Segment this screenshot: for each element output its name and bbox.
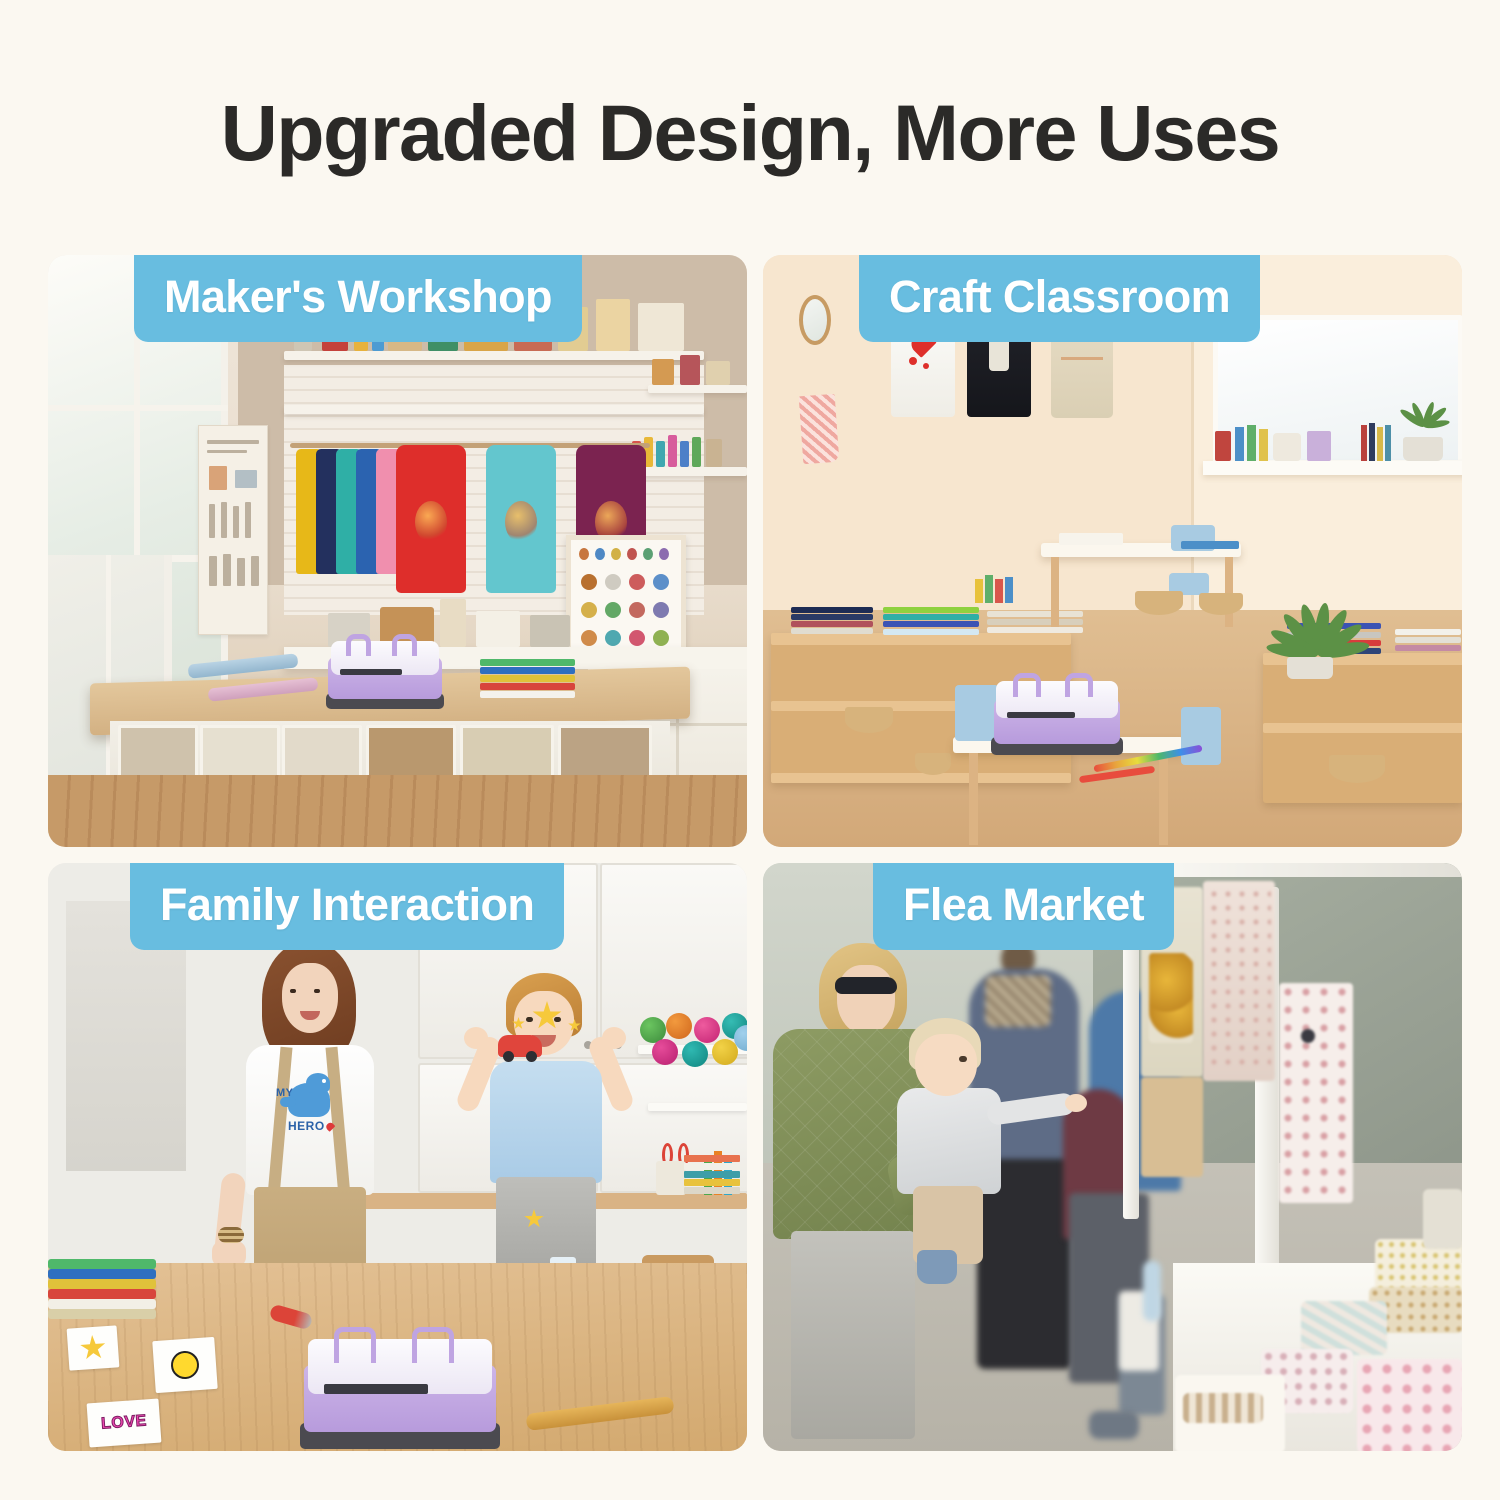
classroom-chair-right[interactable] (1181, 707, 1221, 765)
photo-family-interaction: MY HERO (48, 863, 747, 1451)
folded-shirts-stack (480, 659, 575, 701)
sticker-love-text: LOVE (101, 1412, 148, 1433)
badge-craft-classroom: Craft Classroom (859, 255, 1260, 342)
heat-press-machine (326, 635, 444, 709)
sunglasses-icon (835, 977, 897, 994)
heat-press-machine (991, 675, 1123, 755)
tshirt-red (396, 445, 466, 593)
yarn-ball (694, 1017, 720, 1043)
photo-flea-market (763, 863, 1462, 1451)
heat-press-machine (300, 1329, 500, 1449)
fern-plant (1263, 577, 1373, 669)
shirt-text-hero: HERO (288, 1119, 325, 1133)
page-title: Upgraded Design, More Uses (0, 93, 1500, 172)
round-mirror (799, 295, 831, 345)
panel-craft-classroom[interactable]: Craft Classroom (763, 255, 1462, 847)
folded-garments-navy (791, 607, 873, 635)
photo-makers-workshop (48, 255, 747, 847)
yarn-ball (682, 1041, 708, 1067)
tshirt-teal (486, 445, 556, 593)
book (684, 1171, 740, 1178)
yarn-ball (666, 1013, 692, 1039)
sticker-star (67, 1325, 120, 1370)
panel-family-interaction[interactable]: MY HERO (48, 863, 747, 1451)
gingham-cloth (799, 394, 840, 464)
person-child (458, 973, 633, 1283)
panel-flea-market[interactable]: Flea Market (763, 863, 1462, 1451)
use-case-grid: Maker's Workshop (48, 255, 1452, 1451)
folded-shirts-stack (48, 1259, 158, 1329)
hanging-textile (1279, 983, 1353, 1203)
panel-makers-workshop[interactable]: Maker's Workshop (48, 255, 747, 847)
sticker-love: LOVE (87, 1399, 162, 1448)
yarn-ball (652, 1039, 678, 1065)
badge-family-interaction: Family Interaction (130, 863, 564, 950)
car-graphic (498, 1035, 542, 1057)
book (684, 1179, 740, 1186)
shirt-text-my: MY (276, 1087, 294, 1099)
book (684, 1187, 740, 1194)
folded-garments-green (883, 607, 979, 637)
tool-poster (198, 425, 268, 635)
badge-flea-market: Flea Market (873, 863, 1174, 950)
folded-garments-cream (987, 611, 1083, 639)
sticker-smiley (152, 1337, 217, 1393)
person-mother: MY HERO (228, 941, 398, 1271)
badge-makers-workshop: Maker's Workshop (134, 255, 582, 342)
photo-craft-classroom (763, 255, 1462, 847)
dinosaur-graphic: MY HERO (280, 1069, 336, 1131)
book (684, 1163, 740, 1170)
book (684, 1155, 740, 1162)
person-baby (883, 1018, 1083, 1248)
